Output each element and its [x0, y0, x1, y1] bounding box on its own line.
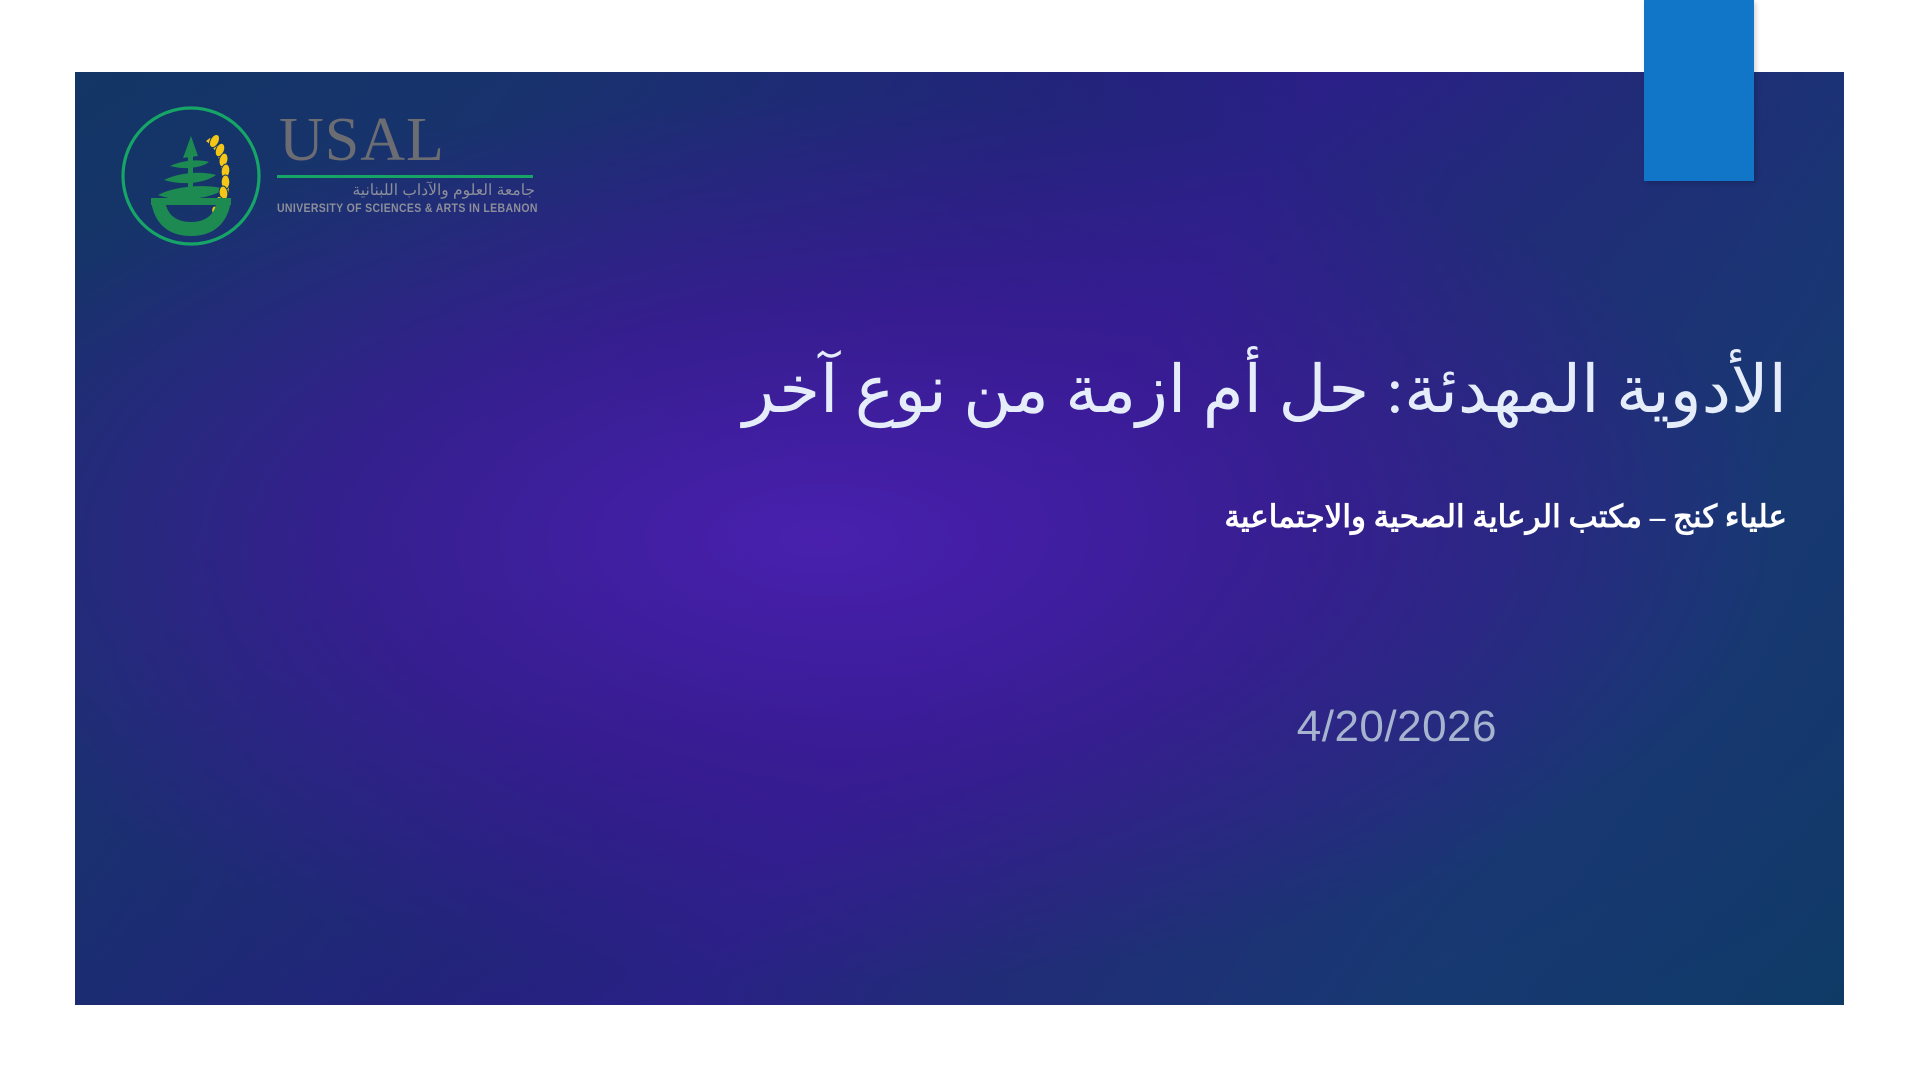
logo-divider-rule: [277, 175, 533, 178]
slide-background: USAL جامعة العلوم والآداب اللبنانية UNIV…: [75, 72, 1844, 1005]
slide-date: 4/20/2026: [1297, 702, 1497, 751]
usal-cedar-wheat-circle-icon: [117, 102, 265, 250]
presentation-slide: USAL جامعة العلوم والآداب اللبنانية UNIV…: [0, 0, 1920, 1080]
subtitle-placeholder: علياء كنج – مكتب الرعاية الصحية والاجتما…: [275, 497, 1787, 537]
usal-logo: USAL جامعة العلوم والآداب اللبنانية UNIV…: [117, 102, 537, 272]
usal-arabic-name: جامعة العلوم والآداب اللبنانية: [277, 181, 535, 200]
accent-rectangle-decoration: [1644, 0, 1754, 181]
date-placeholder: 4/20/2026: [975, 702, 1587, 752]
usal-wordmark-text: USAL: [277, 110, 535, 171]
usal-wordmark-block: USAL جامعة العلوم والآداب اللبنانية UNIV…: [277, 110, 535, 214]
page-title: الأدوية المهدئة: حل أم ازمة من نوع آخر: [275, 352, 1787, 430]
title-placeholder: الأدوية المهدئة: حل أم ازمة من نوع آخر: [275, 352, 1787, 430]
usal-english-name: UNIVERSITY OF SCIENCES & ARTS IN LEBANON: [277, 202, 535, 215]
page-subtitle: علياء كنج – مكتب الرعاية الصحية والاجتما…: [275, 497, 1787, 537]
